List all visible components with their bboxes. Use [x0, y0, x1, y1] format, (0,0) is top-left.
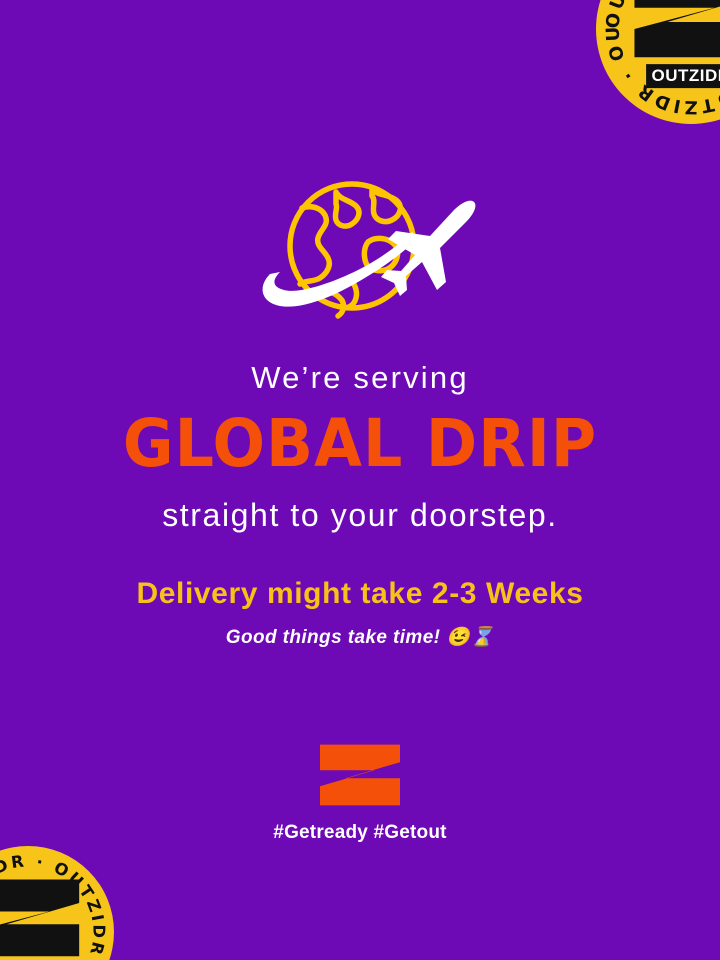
globe-with-airplane-icon [240, 170, 480, 330]
badge-wordmark-top-right: OUTZIDR [646, 64, 720, 88]
z-logo-mark-icon [320, 744, 400, 806]
brand-stamp-badge-bottom-left: OUTZIDR · OUTZIDR · OUTZIDR · OUTZIDR · … [0, 846, 114, 960]
subhead-text: straight to your doorstep. [0, 499, 720, 531]
reassurance-text: Good things take time! 😉⌛ [0, 628, 720, 647]
badge-wordmark-text: OUTZIDR [651, 65, 720, 86]
promo-poster: OUTZIDR · OUTZIDR · OUTZIDR · OUTZIDR · … [0, 0, 720, 960]
badge-core-bottom-left: OUT IDR [0, 877, 81, 960]
badge-core-top-right: OUTZIDR [632, 0, 720, 88]
delivery-note-text: Delivery might take 2-3 Weeks [0, 579, 720, 609]
poster-footer: #Getready #Getout [0, 744, 720, 844]
brand-stamp-badge-top-right: OUTZIDR · OUTZIDR · OUTZIDR · OUTZIDR · … [596, 0, 720, 124]
poster-copy: We’re serving GLOBAL DRIP straight to yo… [0, 362, 720, 647]
z-logo-mark-icon [632, 0, 720, 60]
eyebrow-text: We’re serving [0, 362, 720, 393]
hero-illustration [0, 170, 720, 330]
headline-text: GLOBAL DRIP [0, 411, 720, 477]
hashtags-text: #Getready #Getout [273, 822, 446, 844]
z-logo-mark-icon [0, 877, 81, 958]
